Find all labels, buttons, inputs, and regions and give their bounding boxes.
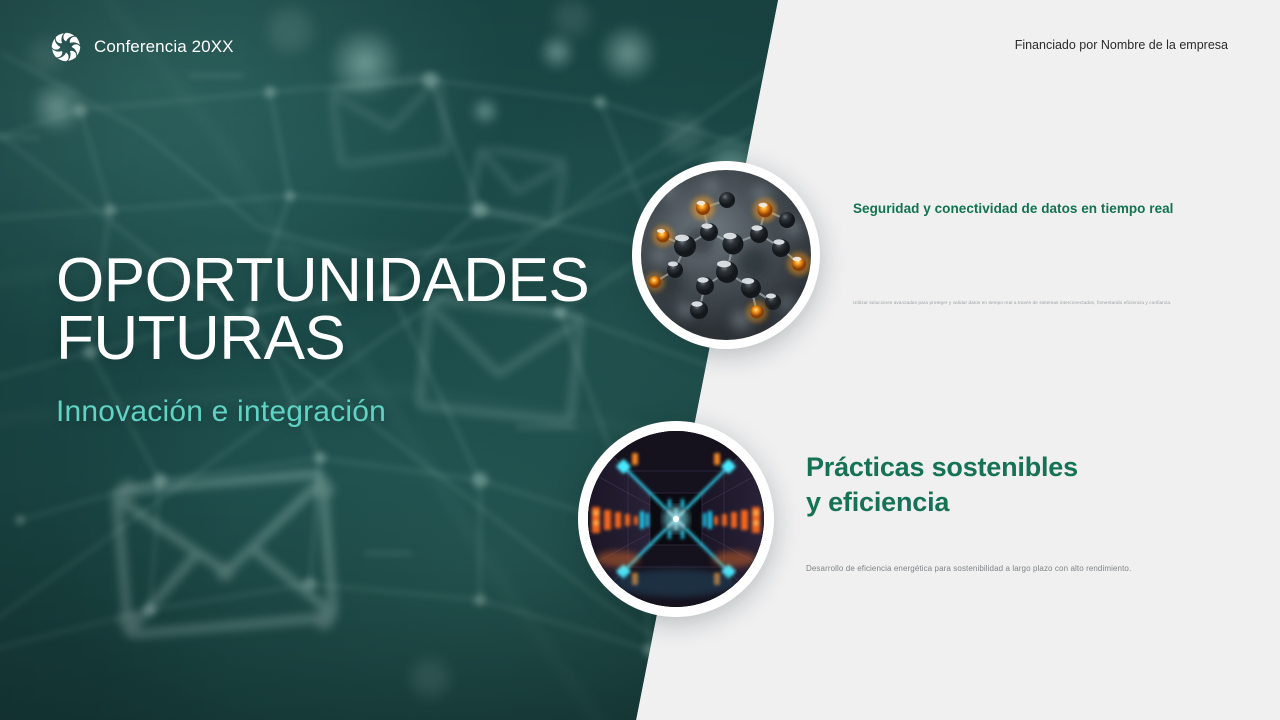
feature-block-sostenibilidad: Prácticas sostenibles y eficiencia Desar…	[806, 450, 1206, 575]
hero-text-block: OPORTUNIDADES FUTURAS Innovación e integ…	[56, 252, 676, 429]
molecular-network-artwork	[641, 170, 811, 340]
hero-subtitle: Innovación e integración	[56, 395, 676, 429]
feature-block-seguridad: Seguridad y conectividad de datos en tie…	[853, 200, 1193, 306]
bokeh-dot	[28, 78, 86, 136]
feature-image-neon-corridor	[578, 421, 774, 617]
page-title: OPORTUNIDADES FUTURAS	[56, 252, 676, 369]
corridor-graphic	[588, 431, 764, 607]
pinwheel-swirl-logo-icon	[48, 29, 84, 65]
envelope-icon	[330, 74, 450, 166]
neon-corridor-artwork	[588, 431, 764, 607]
funder-note: Financiado por Nombre de la empresa	[1015, 38, 1228, 52]
molecule-graphic	[641, 170, 811, 340]
molecular-network-photo	[641, 170, 811, 340]
envelope-icon	[470, 148, 566, 222]
slide-root: Conferencia 20XX Financiado por Nombre d…	[0, 0, 1280, 720]
bokeh-dot	[540, 30, 574, 74]
feature-image-molecular-network	[632, 161, 820, 349]
brand-lockup: Conferencia 20XX	[48, 26, 234, 68]
brand-name: Conferencia 20XX	[94, 37, 234, 57]
feature-heading: Prácticas sostenibles y eficiencia	[806, 450, 1206, 519]
feature-body: Utilizar soluciones avanzadas para prote…	[853, 300, 1193, 307]
feature-heading: Seguridad y conectividad de datos en tie…	[853, 200, 1193, 218]
envelope-icon	[110, 468, 340, 640]
bokeh-dot	[600, 18, 656, 88]
feature-body: Desarrollo de eficiencia energética para…	[806, 563, 1206, 575]
neon-data-corridor-photo	[588, 431, 764, 607]
bokeh-dot	[470, 96, 500, 126]
